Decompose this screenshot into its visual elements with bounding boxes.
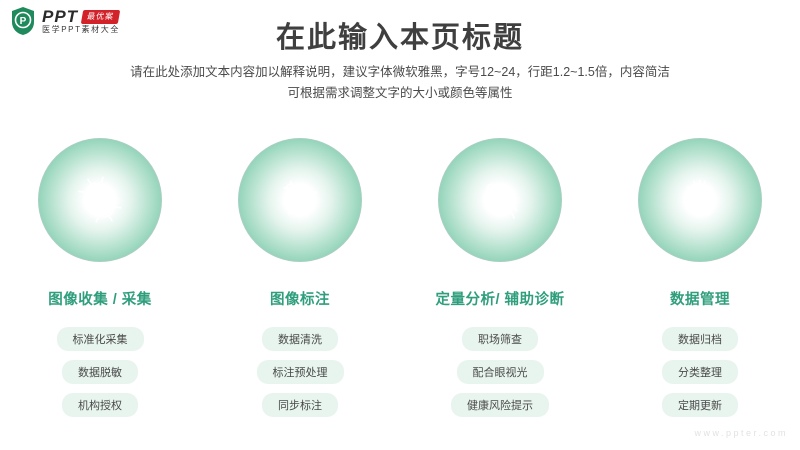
- flagellate-bacteria-icon: [473, 173, 527, 227]
- feature-columns: 图像收集 / 采集 标准化采集 数据脱敏 机构授权 图像标注: [0, 138, 800, 417]
- feature-column-4[interactable]: 数据管理 数据归档 分类整理 定期更新: [600, 138, 800, 417]
- tag-item[interactable]: 定期更新: [662, 393, 738, 417]
- feature-column-3[interactable]: 定量分析/ 辅助诊断 职场筛查 配合眼视光 健康风险提示: [400, 138, 600, 417]
- subtitle-line-2: 可根据需求调整文字的大小或颜色等属性: [0, 83, 800, 104]
- tag-item[interactable]: 同步标注: [262, 393, 338, 417]
- tag-item[interactable]: 分类整理: [662, 360, 738, 384]
- tag-item[interactable]: 健康风险提示: [451, 393, 549, 417]
- tag-item[interactable]: 配合眼视光: [457, 360, 544, 384]
- tag-item[interactable]: 数据脱敏: [62, 360, 138, 384]
- column-heading-3: 定量分析/ 辅助诊断: [435, 288, 564, 309]
- ciliated-bacillus-icon: [673, 173, 727, 227]
- watermark: www.ppter.com: [694, 428, 788, 438]
- page-title: 在此输入本页标题: [0, 14, 800, 56]
- column-heading-4: 数据管理: [670, 288, 730, 309]
- tag-item[interactable]: 机构授权: [62, 393, 138, 417]
- subtitle-line-1: 请在此处添加文本内容加以解释说明，建议字体微软雅黑，字号12~24，行距1.2~…: [0, 62, 800, 83]
- tag-list-1: 标准化采集 数据脱敏 机构授权: [57, 327, 144, 417]
- icon-circle-2: [238, 138, 362, 262]
- column-heading-1: 图像收集 / 采集: [48, 288, 152, 309]
- feature-column-1[interactable]: 图像收集 / 采集 标准化采集 数据脱敏 机构授权: [0, 138, 200, 417]
- tag-list-3: 职场筛查 配合眼视光 健康风险提示: [451, 327, 549, 417]
- column-heading-2: 图像标注: [270, 288, 330, 309]
- page-subtitle: 请在此处添加文本内容加以解释说明，建议字体微软雅黑，字号12~24，行距1.2~…: [0, 62, 800, 104]
- tag-item[interactable]: 标注预处理: [257, 360, 344, 384]
- icon-circle-4: [638, 138, 762, 262]
- tag-item[interactable]: 标准化采集: [57, 327, 144, 351]
- amoeba-bacteria-icon: [273, 173, 327, 227]
- diplococcus-bacteria-icon: [73, 173, 127, 227]
- tag-list-4: 数据归档 分类整理 定期更新: [662, 327, 738, 417]
- tag-item[interactable]: 职场筛查: [462, 327, 538, 351]
- icon-circle-3: [438, 138, 562, 262]
- tag-item[interactable]: 数据清洗: [262, 327, 338, 351]
- tag-list-2: 数据清洗 标注预处理 同步标注: [257, 327, 344, 417]
- feature-column-2[interactable]: 图像标注 数据清洗 标注预处理 同步标注: [200, 138, 400, 417]
- tag-item[interactable]: 数据归档: [662, 327, 738, 351]
- icon-circle-1: [38, 138, 162, 262]
